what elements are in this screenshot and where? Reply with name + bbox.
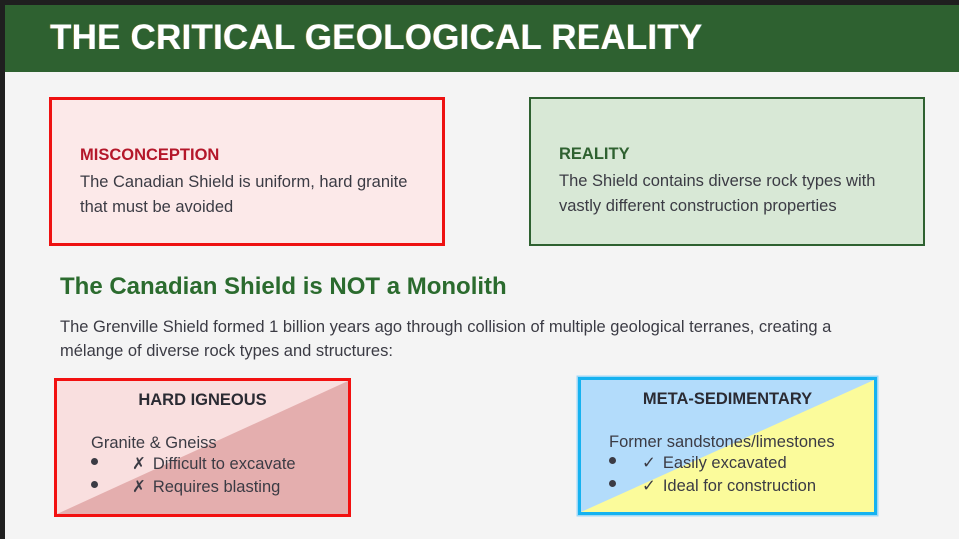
hard-igneous-title: HARD IGNEOUS (57, 391, 348, 410)
list-item: ✓ Ideal for construction (581, 475, 874, 498)
meta-sedimentary-content: META-SEDIMENTARY Former sandstones/limes… (581, 390, 874, 499)
hard-igneous-lead: Granite & Gneiss (57, 434, 348, 453)
hard-igneous-box: HARD IGNEOUS Granite & Gneiss ✗ Difficul… (54, 378, 351, 517)
hard-igneous-content: HARD IGNEOUS Granite & Gneiss ✗ Difficul… (57, 391, 348, 500)
section-heading: The Canadian Shield is NOT a Monolith (60, 273, 507, 301)
reality-text: The Shield contains diverse rock types w… (559, 169, 909, 219)
list-item-label: Requires blasting (153, 476, 281, 499)
list-item-label: Difficult to excavate (153, 453, 296, 476)
reality-callout-box: REALITY The Shield contains diverse rock… (529, 97, 925, 246)
page-title: THE CRITICAL GEOLOGICAL REALITY (50, 18, 702, 58)
bullet-dot-icon (91, 481, 98, 488)
bullet-dot-icon (609, 480, 616, 487)
list-item: ✗ Requires blasting (57, 476, 348, 499)
meta-sedimentary-list: ✓ Easily excavated ✓ Ideal for construct… (581, 452, 874, 499)
meta-sedimentary-lead: Former sandstones/limestones (581, 433, 874, 452)
list-item: ✓ Easily excavated (581, 452, 874, 475)
hard-igneous-list: ✗ Difficult to excavate ✗ Requires blast… (57, 453, 348, 500)
misconception-content: MISCONCEPTION The Canadian Shield is uni… (80, 144, 428, 220)
reality-label: REALITY (559, 143, 909, 167)
reality-content: REALITY The Shield contains diverse rock… (559, 143, 909, 219)
list-item-label: Easily excavated (663, 452, 787, 475)
bullet-dot-icon (91, 458, 98, 465)
misconception-text: The Canadian Shield is uniform, hard gra… (80, 170, 428, 220)
section-paragraph: The Grenville Shield formed 1 billion ye… (60, 315, 890, 364)
misconception-callout-box: MISCONCEPTION The Canadian Shield is uni… (49, 97, 445, 246)
list-item: ✗ Difficult to excavate (57, 453, 348, 476)
slide-body: THE CRITICAL GEOLOGICAL REALITY MISCONCE… (5, 5, 959, 539)
bullet-dot-icon (609, 457, 616, 464)
check-icon: ✓ (642, 475, 656, 498)
slide-canvas: THE CRITICAL GEOLOGICAL REALITY MISCONCE… (0, 0, 959, 539)
cross-icon: ✗ (132, 453, 146, 476)
meta-sedimentary-title: META-SEDIMENTARY (581, 390, 874, 409)
slide-header-bar: THE CRITICAL GEOLOGICAL REALITY (5, 5, 959, 72)
cross-icon: ✗ (132, 476, 146, 499)
check-icon: ✓ (642, 452, 656, 475)
list-item-label: Ideal for construction (663, 475, 816, 498)
meta-sedimentary-box: META-SEDIMENTARY Former sandstones/limes… (578, 377, 877, 515)
misconception-label: MISCONCEPTION (80, 144, 428, 168)
